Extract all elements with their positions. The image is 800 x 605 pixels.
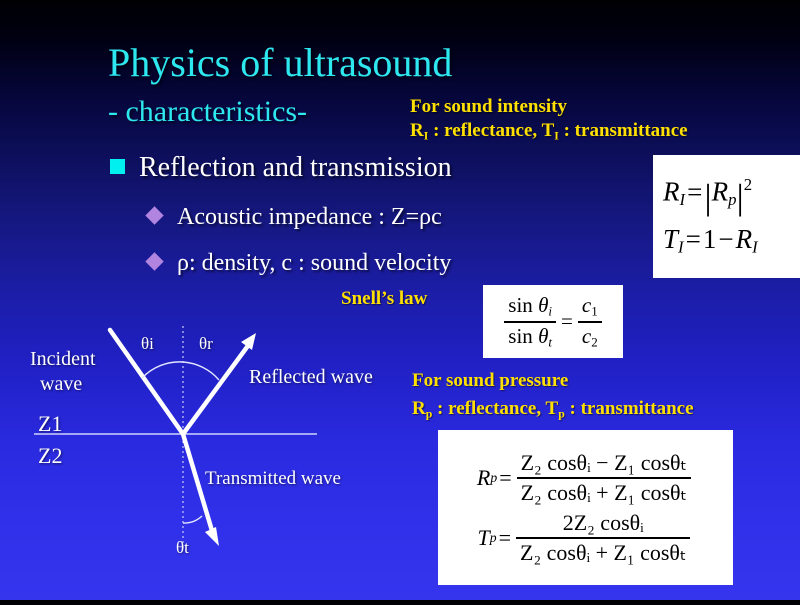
ti-equals: = bbox=[684, 224, 703, 254]
reflected-ray-arrowhead bbox=[241, 333, 256, 350]
snell-num-theta: θ bbox=[538, 293, 548, 317]
transmitted-angle-arc bbox=[183, 516, 202, 523]
snell-den-sub: t bbox=[548, 334, 552, 349]
ri-lhs: R bbox=[663, 177, 680, 207]
incident-wave-label-line2: wave bbox=[40, 373, 82, 396]
abs-open: | bbox=[704, 176, 711, 218]
angle-transmitted-label: θt bbox=[176, 538, 189, 558]
rp-inner: R bbox=[712, 177, 729, 207]
snell-law-label: Snell’s law bbox=[341, 288, 427, 310]
intensity-formula-box: RI=|Rp|2 TI=1−RI bbox=[653, 155, 800, 278]
pressure-note-line2: Rp : reflectance, Tp : transmittance bbox=[412, 398, 694, 421]
reflected-angle-arc bbox=[183, 362, 219, 380]
rp-lhs: R bbox=[477, 465, 490, 491]
reflected-ray bbox=[183, 343, 250, 434]
snell-c1-sym: c bbox=[582, 293, 591, 317]
page-subtitle: - characteristics- bbox=[108, 96, 307, 128]
rp-lhs-sub: p bbox=[490, 470, 497, 486]
square-bullet-icon bbox=[110, 159, 125, 174]
formula-snell: sin θi sin θt = c1 c2 bbox=[501, 293, 604, 350]
ti-one: 1 bbox=[703, 224, 717, 254]
pressure-formula-box: Rp = Z₂ cosθᵢ − Z₁ cosθₜ Z₂ cosθᵢ + Z₁ c… bbox=[438, 430, 733, 585]
pressure-t-symbol: T bbox=[546, 398, 559, 419]
intensity-r-symbol: R bbox=[410, 120, 424, 141]
bullet-sub-2: ρ: density, c : sound velocity bbox=[148, 250, 451, 277]
rp-inner-sub: p bbox=[728, 191, 736, 210]
intensity-mid-text: : reflectance, bbox=[428, 120, 541, 141]
snell-equals: = bbox=[559, 309, 575, 334]
pressure-mid-text: : reflectance, bbox=[432, 398, 545, 419]
angle-reflected-label: θr bbox=[199, 334, 213, 354]
snell-c1: c1 bbox=[578, 293, 602, 321]
tp-equals: = bbox=[497, 525, 513, 551]
abs-close: | bbox=[736, 176, 743, 218]
bullet-main-label: Reflection and transmission bbox=[139, 152, 452, 184]
ti-minus: − bbox=[716, 224, 735, 254]
medium-upper-label: Z1 bbox=[38, 411, 62, 437]
page-title: Physics of ultrasound bbox=[108, 42, 452, 84]
tp-lhs-sub: p bbox=[490, 530, 497, 546]
bullet-sub-1: Acoustic impedance : Z=ρc bbox=[148, 204, 442, 231]
intensity-note-line2: RI : reflectance, TI : transmittance bbox=[410, 120, 688, 143]
incident-wave-label-line1: Incident bbox=[30, 348, 96, 371]
ti-lhs: T bbox=[663, 224, 678, 254]
tp-denominator: Z₂ cosθᵢ + Z₁ cosθₜ bbox=[516, 537, 690, 566]
intensity-t-symbol: T bbox=[542, 120, 555, 141]
pressure-note-line1: For sound pressure bbox=[412, 370, 568, 392]
snell-formula-box: sin θi sin θt = c1 c2 bbox=[483, 285, 623, 358]
snell-left-fraction: sin θi sin θt bbox=[504, 293, 556, 350]
diamond-bullet-icon bbox=[145, 252, 163, 270]
intensity-end-text: : transmittance bbox=[559, 120, 688, 141]
bullet-sub-2-label: ρ: density, c : sound velocity bbox=[177, 250, 451, 277]
snell-right-fraction: c1 c2 bbox=[578, 293, 602, 350]
snell-c1-sub: 1 bbox=[591, 304, 598, 319]
angle-incident-label: θi bbox=[141, 334, 154, 354]
ti-rhs-sub: I bbox=[752, 238, 758, 257]
ray-diagram: Incident wave Reflected wave Transmitted… bbox=[0, 318, 400, 600]
pressure-end-text: : transmittance bbox=[565, 398, 694, 419]
reflected-wave-label: Reflected wave bbox=[249, 366, 373, 389]
rp-equals: = bbox=[497, 465, 513, 491]
bullet-main: Reflection and transmission bbox=[110, 152, 452, 184]
transmitted-ray-arrowhead bbox=[205, 527, 219, 546]
tp-lhs: T bbox=[478, 525, 490, 551]
formula-transmittance-pressure: Tp = 2Z₂ cosθᵢ Z₂ cosθᵢ + Z₁ cosθₜ bbox=[478, 510, 694, 566]
bullet-sub-1-label: Acoustic impedance : Z=ρc bbox=[177, 204, 442, 231]
snell-den-theta: θ bbox=[538, 324, 548, 348]
tp-fraction: 2Z₂ cosθᵢ Z₂ cosθᵢ + Z₁ cosθₜ bbox=[516, 510, 690, 566]
presentation-slide: Physics of ultrasound - characteristics-… bbox=[0, 0, 800, 600]
formula-reflectance-pressure: Rp = Z₂ cosθᵢ − Z₁ cosθₜ Z₂ cosθᵢ + Z₁ c… bbox=[477, 450, 694, 506]
ri-equals: = bbox=[685, 177, 704, 207]
snell-num-sin: sin bbox=[508, 293, 533, 317]
snell-numerator: sin θi bbox=[504, 293, 556, 321]
snell-num-sub: i bbox=[548, 304, 552, 319]
tp-numerator: 2Z₂ cosθᵢ bbox=[559, 510, 648, 537]
pressure-r-symbol: R bbox=[412, 398, 426, 419]
abs-power: 2 bbox=[744, 175, 752, 194]
snell-c2-sub: 2 bbox=[591, 334, 598, 349]
diamond-bullet-icon bbox=[145, 206, 163, 224]
ti-rhs: R bbox=[736, 224, 753, 254]
rp-numerator: Z₂ cosθᵢ − Z₁ cosθₜ bbox=[517, 450, 691, 477]
rp-denominator: Z₂ cosθᵢ + Z₁ cosθₜ bbox=[517, 477, 691, 506]
formula-reflectance-intensity: RI=|Rp|2 bbox=[663, 175, 752, 217]
formula-transmittance-intensity: TI=1−RI bbox=[663, 224, 758, 258]
transmitted-wave-label: Transmitted wave bbox=[205, 468, 341, 490]
incident-angle-arc bbox=[142, 362, 183, 378]
intensity-note-line1: For sound intensity bbox=[410, 96, 567, 118]
snell-denominator: sin θt bbox=[504, 321, 556, 351]
medium-lower-label: Z2 bbox=[38, 443, 62, 469]
rp-fraction: Z₂ cosθᵢ − Z₁ cosθₜ Z₂ cosθᵢ + Z₁ cosθₜ bbox=[517, 450, 691, 506]
snell-c2-sym: c bbox=[582, 324, 591, 348]
snell-den-sin: sin bbox=[508, 324, 533, 348]
ti-lhs-sub: I bbox=[678, 238, 684, 257]
snell-c2: c2 bbox=[578, 321, 602, 351]
